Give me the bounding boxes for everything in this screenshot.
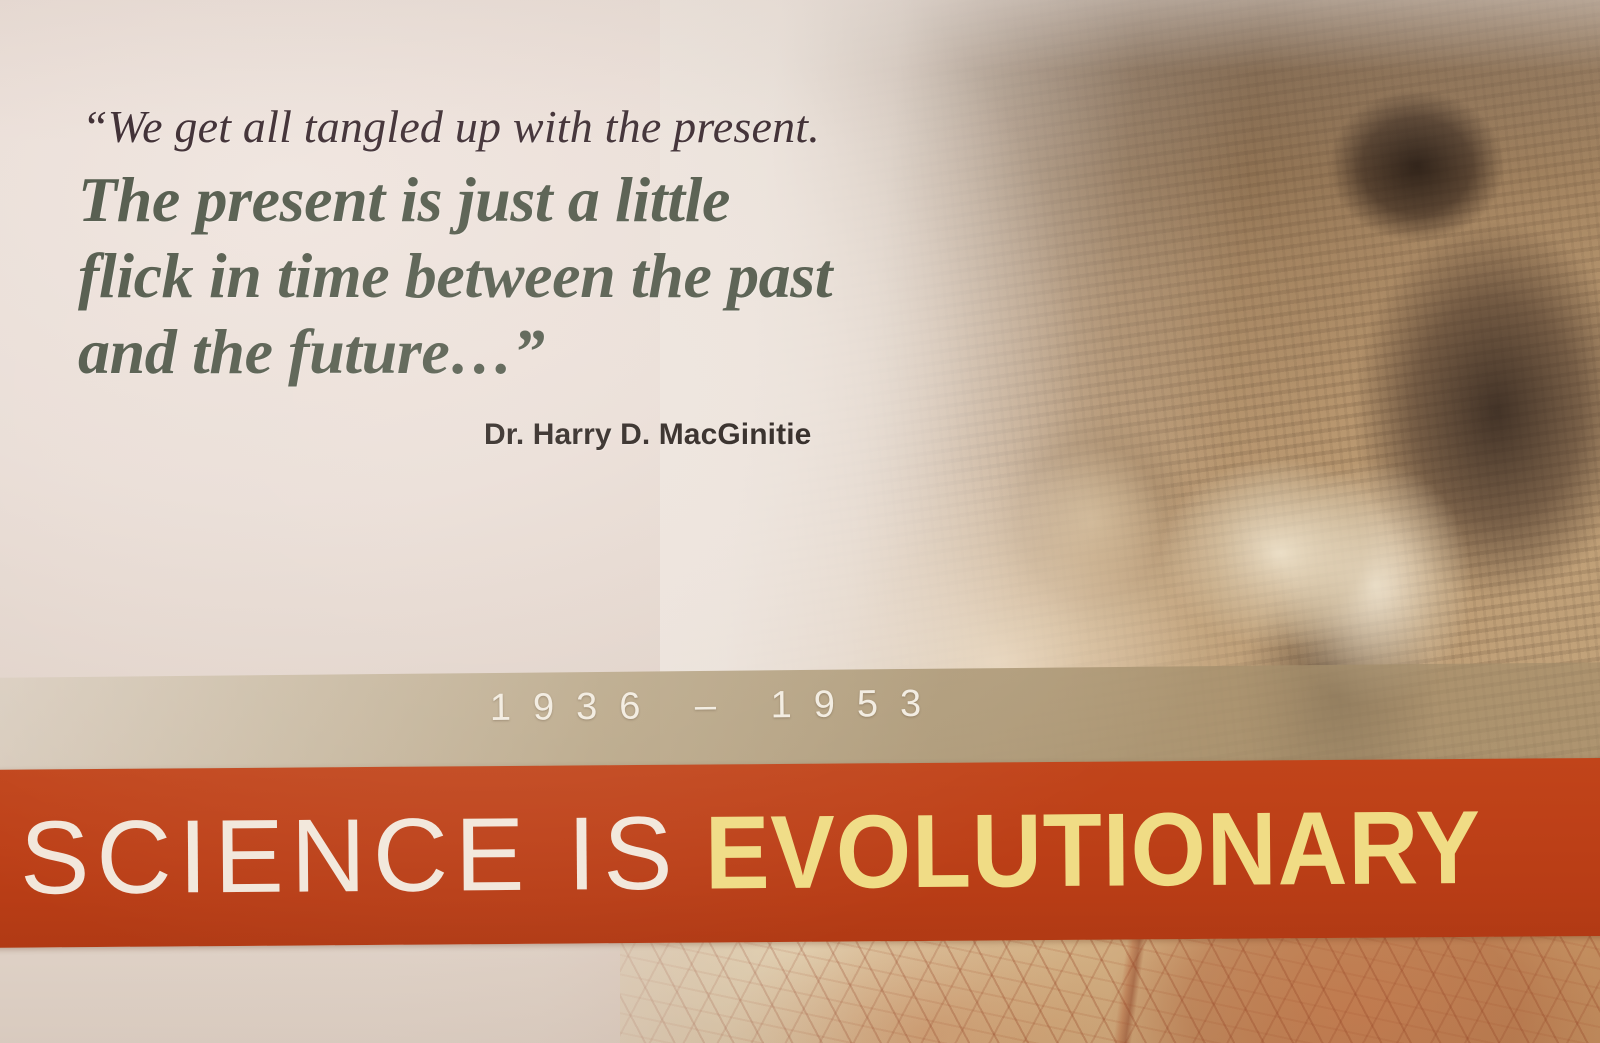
quote-block: “We get all tangled up with the present.… [78, 104, 1078, 390]
quote-emphasis-line-1: The present is just a little [78, 162, 1078, 238]
date-range-text: 1936 – 1953 [490, 683, 944, 730]
quote-attribution: Dr. Harry D. MacGinitie [484, 418, 811, 452]
quote-emphasis-line-3: and the future…” [78, 314, 1078, 390]
headline-science-is: SCIENCE IS [20, 802, 680, 911]
exhibit-panel: “We get all tangled up with the present.… [0, 0, 1600, 1043]
headline-banner: SCIENCE IS EVOLUTIONARY [0, 758, 1600, 948]
quote-emphasis: The present is just a little flick in ti… [78, 162, 1078, 390]
headline-banner-content: SCIENCE IS EVOLUTIONARY [19, 758, 1540, 947]
quote-line-1: “We get all tangled up with the present. [82, 104, 1078, 150]
quote-emphasis-line-2: flick in time between the past [78, 238, 1078, 314]
headline-evolutionary: EVOLUTIONARY [705, 796, 1482, 906]
